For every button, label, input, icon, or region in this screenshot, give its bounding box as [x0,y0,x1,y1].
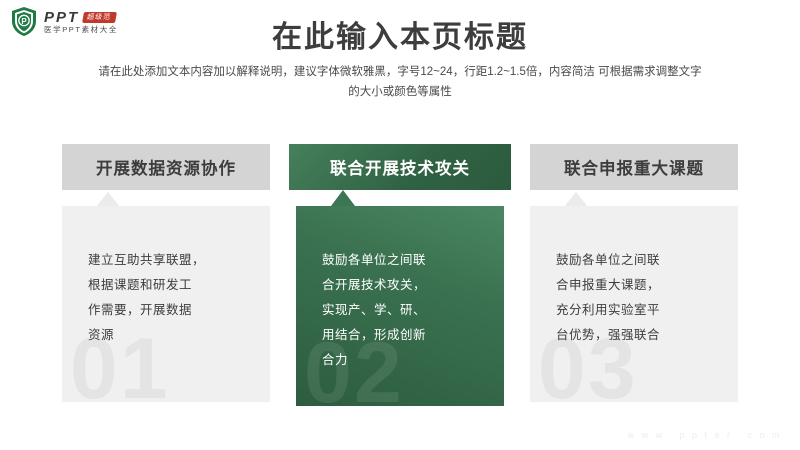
column-card-2[interactable]: 联合开展技术攻关 02 鼓励各单位之间联 合开展技术攻关， 实现产、学、研、 用… [289,144,511,402]
pointer-triangle-1 [96,192,120,207]
column-body-1: 01 建立互助共享联盟， 根据课题和研发工 作需要，开展数据 资源 [62,206,270,402]
column-body-3: 03 鼓励各单位之间联 合申报重大课题， 充分利用实验室平 台优势，强强联合 [530,206,738,402]
column-heading-1: 开展数据资源协作 [62,144,270,190]
column-body-text-1: 建立互助共享联盟， 根据课题和研发工 作需要，开展数据 资源 [88,248,248,348]
page-title: 在此输入本页标题 [0,12,800,56]
column-heading-3: 联合申报重大课题 [530,144,738,190]
column-body-2: 02 鼓励各单位之间联 合开展技术攻关， 实现产、学、研、 用结合，形成创新 合… [296,206,504,406]
column-card-1[interactable]: 开展数据资源协作 01 建立互助共享联盟， 根据课题和研发工 作需要，开展数据 … [62,144,270,402]
pointer-triangle-3 [564,192,588,207]
column-body-text-3: 鼓励各单位之间联 合申报重大课题， 充分利用实验室平 台优势，强强联合 [556,248,716,348]
page-subtitle: 请在此处添加文本内容加以解释说明，建议字体微软雅黑，字号12~24，行距1.2~… [95,62,705,102]
three-column-group: 开展数据资源协作 01 建立互助共享联盟， 根据课题和研发工 作需要，开展数据 … [62,144,738,402]
column-heading-2: 联合开展技术攻关 [289,144,511,190]
pointer-triangle-2 [331,190,355,206]
column-card-3[interactable]: 联合申报重大课题 03 鼓励各单位之间联 合申报重大课题， 充分利用实验室平 台… [530,144,738,402]
column-body-text-2: 鼓励各单位之间联 合开展技术攻关， 实现产、学、研、 用结合，形成创新 合力 [322,248,482,373]
site-watermark: w w w . p p t e r . c o m [627,430,782,440]
slide-canvas: P PPT 超级范 医学PPT素材大全 在此输入本页标题 请在此处添加文本内容加… [0,0,800,450]
